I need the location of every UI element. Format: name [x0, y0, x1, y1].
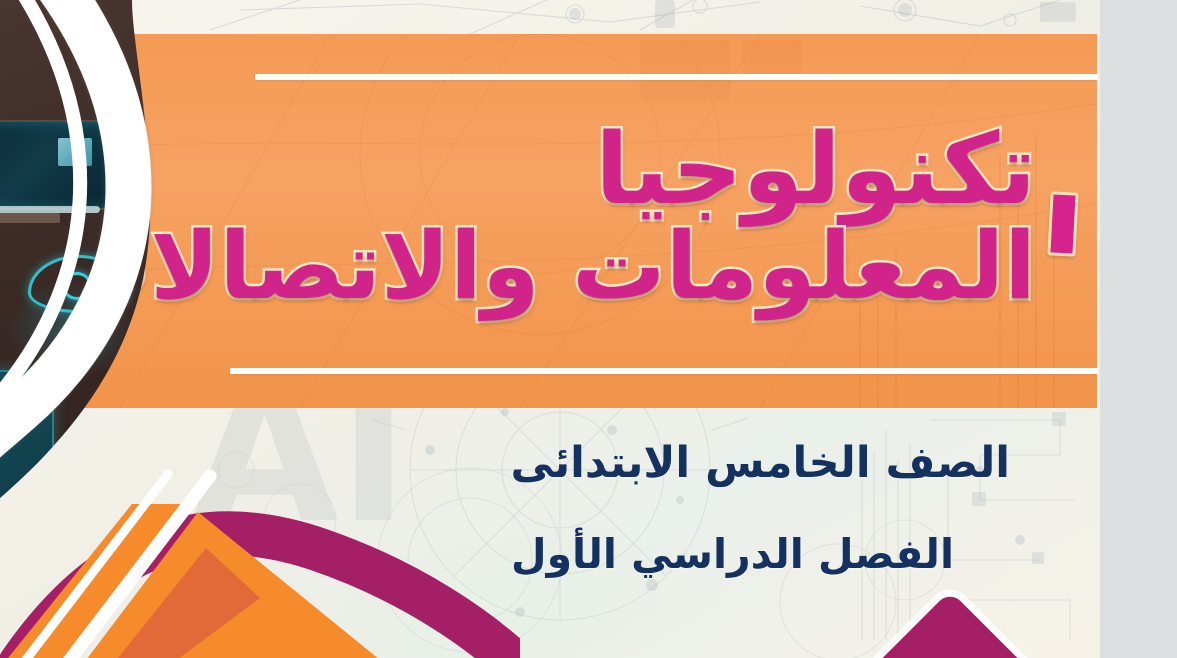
book-cover-page: AI — [0, 0, 1100, 658]
bottom-diamond-shape — [857, 581, 1044, 658]
page-gutter — [1100, 0, 1177, 658]
edge-chip-shape — [1047, 191, 1078, 256]
bottom-left-decoration — [0, 438, 520, 658]
